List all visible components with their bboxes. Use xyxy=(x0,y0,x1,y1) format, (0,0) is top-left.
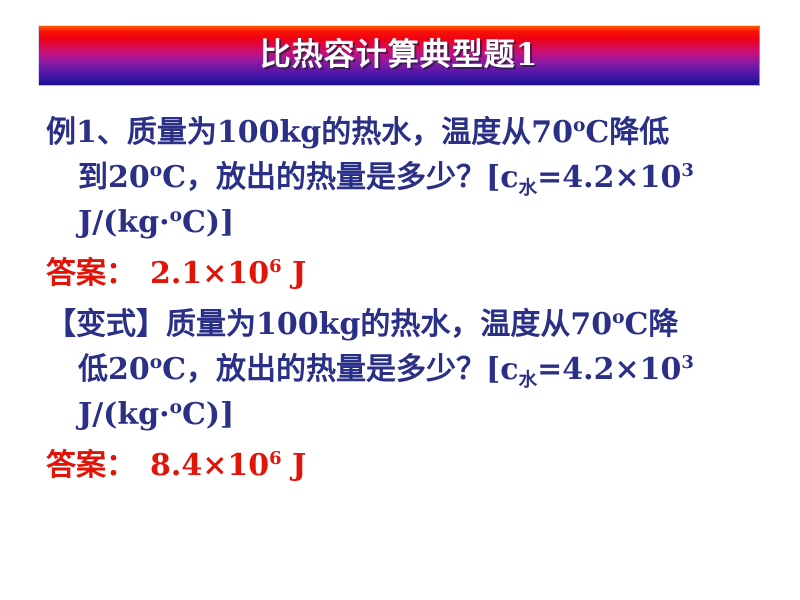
variant-line2-text-b: C，放出的热量是多少？[c xyxy=(162,352,518,387)
slide-canvas: 比热容计算典型题1 例1、质量为100kg的热水，温度从70oC降低 到20oC… xyxy=(0,0,800,600)
variant-line3-text-a: J/(kg· xyxy=(78,397,170,432)
variant-line1-text-b: C降 xyxy=(625,307,679,342)
problem1-line-2: 到20oC，放出的热量是多少？[c水=4.2×103 xyxy=(46,155,756,200)
variant-line1-text-a: 【变式】质量为100kg的热水，温度从70 xyxy=(46,307,612,342)
variant-c-subscript: 水 xyxy=(519,370,538,391)
problem1-line2-text-a: 到20 xyxy=(78,160,150,195)
variant-answer-value-b: J xyxy=(282,448,307,483)
degree-symbol-icon: o xyxy=(170,205,182,226)
degree-symbol-icon: o xyxy=(612,307,624,328)
variant-line-2: 低20oC，放出的热量是多少？[c水=4.2×103 xyxy=(46,347,756,392)
variant-line3-text-b: C)] xyxy=(182,397,234,432)
problem1-answer-label: 答案： xyxy=(46,256,136,291)
problem1-line3-text-a: J/(kg· xyxy=(78,205,170,240)
problem1-line2-text-c: =4.2×10 xyxy=(537,160,681,195)
variant-line2-text-c: =4.2×10 xyxy=(537,352,681,387)
problem1-line3-text-b: C)] xyxy=(182,205,234,240)
variant-answer: 答案：8.4×106 J xyxy=(46,443,756,488)
problem1-answer-value-a: 2.1×10 xyxy=(150,256,269,291)
variant-line-1: 【变式】质量为100kg的热水，温度从70oC降 xyxy=(46,302,756,347)
problem1-power-superscript: 3 xyxy=(681,160,694,181)
problem1-line1-text-a: 例1、质量为100kg的热水，温度从70 xyxy=(46,115,573,150)
variant-answer-value-a: 8.4×10 xyxy=(150,448,269,483)
problem1-line-3: J/(kg·oC)] xyxy=(46,200,756,245)
problem1-line-1: 例1、质量为100kg的热水，温度从70oC降低 xyxy=(46,110,756,155)
page-title: 比热容计算典型题1 xyxy=(260,40,539,71)
degree-symbol-icon: o xyxy=(150,352,162,373)
slide-body: 例1、质量为100kg的热水，温度从70oC降低 到20oC，放出的热量是多少？… xyxy=(46,110,756,488)
problem1-answer: 答案：2.1×106 J xyxy=(46,251,756,296)
variant-power-superscript: 3 xyxy=(681,352,694,373)
degree-symbol-icon: o xyxy=(150,160,162,181)
variant-answer-label: 答案： xyxy=(46,448,136,483)
problem1-line1-text-b: C降低 xyxy=(585,115,669,150)
variant-line-3: J/(kg·oC)] xyxy=(46,392,756,437)
degree-symbol-icon: o xyxy=(170,397,182,418)
degree-symbol-icon: o xyxy=(573,115,585,136)
slide-title-banner: 比热容计算典型题1 xyxy=(38,25,760,86)
variant-answer-superscript: 6 xyxy=(269,448,282,469)
problem1-line2-text-b: C，放出的热量是多少？[c xyxy=(162,160,518,195)
problem1-c-subscript: 水 xyxy=(519,178,538,199)
problem1-answer-superscript: 6 xyxy=(269,256,282,277)
problem1-answer-value-b: J xyxy=(282,256,307,291)
variant-line2-text-a: 低20 xyxy=(78,352,150,387)
